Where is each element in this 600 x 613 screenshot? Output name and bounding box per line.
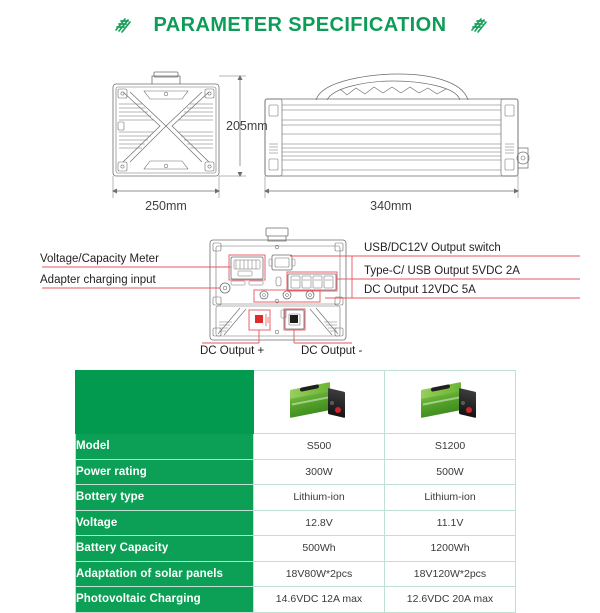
table-row: Battery Capacity 500Wh 1200Wh [76,536,516,562]
leaf-ornament-icon [112,15,132,37]
dc-output-highlight-box [254,290,320,302]
product-photo-s500 [288,380,350,420]
row-value-solar-panels-s500: 18V80W*2pcs [254,561,385,587]
leaf-ornament-icon [468,15,488,37]
dc-output-12v-ports [260,291,314,299]
row-label-photovoltaic-charging: Photovoltaic Charging [76,587,254,613]
row-label-solar-panels: Adaptation of solar panels [76,561,254,587]
page-header: PARAMETER SPECIFICATION [0,14,600,37]
callout-dc-output-positive: DC Output + [200,345,265,357]
row-value-power-rating-s500: 300W [254,459,385,485]
row-value-battery-capacity-s500: 500Wh [254,536,385,562]
row-value-photovoltaic-charging-s500: 14.6VDC 12A max [254,587,385,613]
row-label-battery-type: Bottery type [76,485,254,511]
side-view-drawing [113,72,219,176]
front-view-drawing [265,74,529,176]
callout-dc-output-negative: DC Output - [301,345,363,357]
specification-table: Model S500 S1200 Power rating 300W 500W … [75,370,516,613]
row-label-power-rating: Power rating [76,459,254,485]
callout-dc-output-12vdc: DC Output 12VDC 5A [364,284,476,296]
unit-rear-panel [210,228,346,340]
usb-dc12v-output-switch-port [269,255,295,270]
table-header-row [76,371,516,434]
dc-positive-terminal [255,315,263,323]
row-label-voltage: Voltage [76,510,254,536]
callout-voltage-capacity-meter: Voltage/Capacity Meter [40,253,159,265]
callout-adapter-charging-input: Adapter charging input [40,274,157,286]
table-row: Model S500 S1200 [76,434,516,460]
table-row: Power rating 300W 500W [76,459,516,485]
row-label-model: Model [76,434,254,460]
table-row: Adaptation of solar panels 18V80W*2pcs 1… [76,561,516,587]
row-value-voltage-s500: 12.8V [254,510,385,536]
header-product-image-s500 [254,371,385,434]
width-dimension-left [112,176,220,198]
product-photo-s1200 [419,380,481,420]
callout-type-c-usb-output: Type-C/ USB Output 5VDC 2A [364,265,520,277]
side-width-dimension-label: 250mm [145,199,187,213]
voltage-capacity-meter-port [231,257,263,285]
row-value-voltage-s1200: 11.1V [385,510,516,536]
row-value-model-s1200: S1200 [385,434,516,460]
adapter-charging-input-port [220,283,230,293]
header-product-image-s1200 [385,371,516,434]
table-row: Bottery type Lithium-ion Lithium-ion [76,485,516,511]
dimension-drawings: 205mm 250mm 340mm [0,58,600,213]
usb-output-ports [288,274,336,290]
port-callout-diagram: Voltage/Capacity Meter Adapter charging … [0,222,600,357]
type-c-port [276,277,281,286]
dc-negative-terminal [290,315,298,323]
width-dimension-right [264,176,519,198]
row-value-model-s500: S500 [254,434,385,460]
header-blank-cell [76,371,254,434]
height-dimension-label: 205mm [226,119,268,133]
table-row: Voltage 12.8V 11.1V [76,510,516,536]
front-width-dimension-label: 340mm [370,199,412,213]
row-value-power-rating-s1200: 500W [385,459,516,485]
row-value-battery-capacity-s1200: 1200Wh [385,536,516,562]
row-value-battery-type-s1200: Lithium-ion [385,485,516,511]
row-label-battery-capacity: Battery Capacity [76,536,254,562]
page-title: PARAMETER SPECIFICATION [154,14,447,37]
row-value-battery-type-s500: Lithium-ion [254,485,385,511]
callout-usb-dc12v-output-switch: USB/DC12V Output switch [364,242,501,254]
row-value-solar-panels-s1200: 18V120W*2pcs [385,561,516,587]
table-row: Photovoltaic Charging 14.6VDC 12A max 12… [76,587,516,613]
row-value-photovoltaic-charging-s1200: 12.6VDC 20A max [385,587,516,613]
